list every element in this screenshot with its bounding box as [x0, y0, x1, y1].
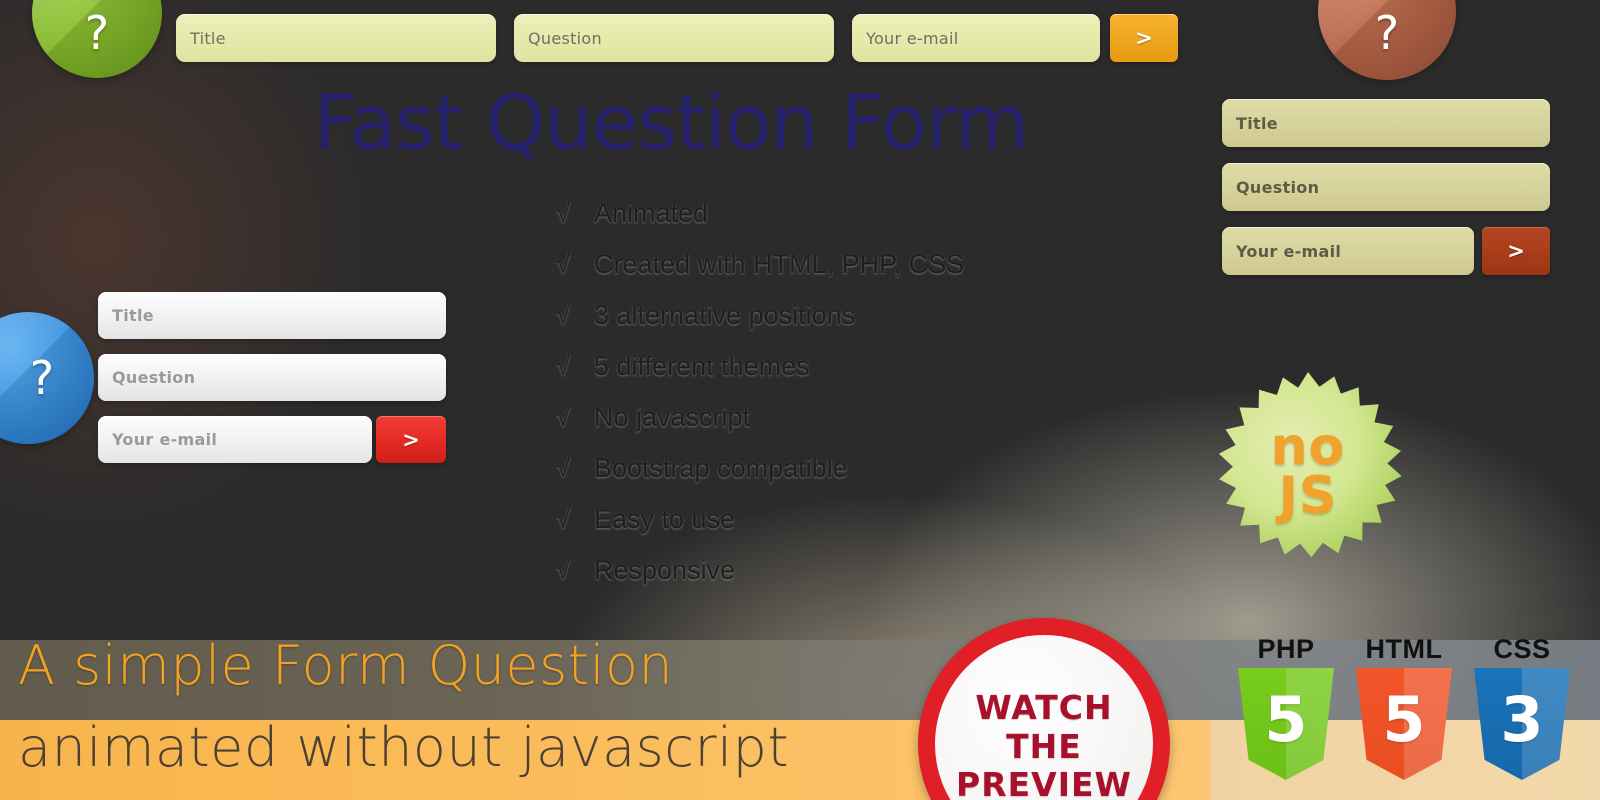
feature-label: No javascript — [594, 402, 750, 433]
promo-banner: Title Question Your e-mail > Title Quest… — [0, 0, 1600, 800]
watch-preview-line1: WATCH — [975, 691, 1112, 726]
feature-item: √ No javascript — [556, 402, 1116, 453]
left-form-question-input[interactable]: Question — [98, 354, 446, 401]
no-js-label: no JS — [1271, 423, 1346, 521]
check-icon: √ — [556, 300, 594, 331]
feature-label: 3 alternative positions — [594, 300, 855, 331]
banner-line-2: animated without javascript — [18, 716, 789, 779]
watch-preview-line3: PREVIEW — [956, 768, 1132, 800]
feature-list: √ Animated √ Created with HTML, PHP, CSS… — [556, 198, 1116, 606]
no-js-starburst-badge: no JS — [1206, 372, 1410, 572]
feature-label: Created with HTML, PHP, CSS — [594, 249, 964, 280]
tech-version: 5 — [1382, 689, 1425, 751]
feature-label: Responsive — [594, 555, 735, 586]
tech-label: PHP — [1257, 634, 1314, 665]
feature-item: √ Created with HTML, PHP, CSS — [556, 249, 1116, 300]
no-js-line2: JS — [1271, 472, 1346, 521]
check-icon: √ — [556, 453, 594, 484]
tech-badge-list: PHP 5 HTML 5 CSS 3 — [1238, 634, 1570, 780]
check-icon: √ — [556, 198, 594, 229]
check-icon: √ — [556, 249, 594, 280]
feature-label: Bootstrap compatible — [594, 453, 848, 484]
feature-item: √ Bootstrap compatible — [556, 453, 1116, 504]
tech-version: 3 — [1500, 689, 1543, 751]
top-form-title-input[interactable]: Title — [176, 14, 496, 62]
feature-item: √ 5 different themes — [556, 351, 1116, 402]
banner-line-1: A simple Form Question — [18, 634, 673, 697]
feature-item: √ Easy to use — [556, 504, 1116, 555]
left-form-submit-button[interactable]: > — [376, 416, 446, 463]
feature-item: √ Animated — [556, 198, 1116, 249]
right-form-question-input[interactable]: Question — [1222, 163, 1550, 211]
no-js-line1: no — [1271, 423, 1346, 472]
feature-label: 5 different themes — [594, 351, 810, 382]
feature-label: Animated — [594, 198, 708, 229]
question-glyph: ? — [30, 351, 54, 405]
watch-preview-inner: WATCH THE PREVIEW — [935, 635, 1153, 800]
page-title: Fast Question Form — [276, 78, 1066, 167]
tech-version: 5 — [1264, 689, 1307, 751]
tech-label: HTML — [1366, 634, 1443, 665]
left-form-title-input[interactable]: Title — [98, 292, 446, 339]
tech-badge-php: PHP 5 — [1238, 634, 1334, 780]
shield-icon-php: 5 — [1238, 668, 1334, 780]
tech-badge-css: CSS 3 — [1474, 634, 1570, 780]
check-icon: √ — [556, 402, 594, 433]
top-form-question-input[interactable]: Question — [514, 14, 834, 62]
right-form-title-input[interactable]: Title — [1222, 99, 1550, 147]
feature-item: √ Responsive — [556, 555, 1116, 606]
left-form-email-input[interactable]: Your e-mail — [98, 416, 372, 463]
shield-icon-css: 3 — [1474, 668, 1570, 780]
check-icon: √ — [556, 555, 594, 586]
watch-preview-line2: THE — [1006, 730, 1082, 765]
right-form-email-input[interactable]: Your e-mail — [1222, 227, 1474, 275]
question-glyph: ? — [1375, 6, 1399, 60]
check-icon: √ — [556, 504, 594, 535]
feature-item: √ 3 alternative positions — [556, 300, 1116, 351]
question-glyph: ? — [85, 6, 109, 60]
feature-label: Easy to use — [594, 504, 735, 535]
right-form-submit-button[interactable]: > — [1482, 227, 1550, 275]
tech-badge-html: HTML 5 — [1356, 634, 1452, 780]
shield-icon-html: 5 — [1356, 668, 1452, 780]
top-form-email-input[interactable]: Your e-mail — [852, 14, 1100, 62]
tech-label: CSS — [1493, 634, 1550, 665]
top-form-submit-button[interactable]: > — [1110, 14, 1178, 62]
check-icon: √ — [556, 351, 594, 382]
